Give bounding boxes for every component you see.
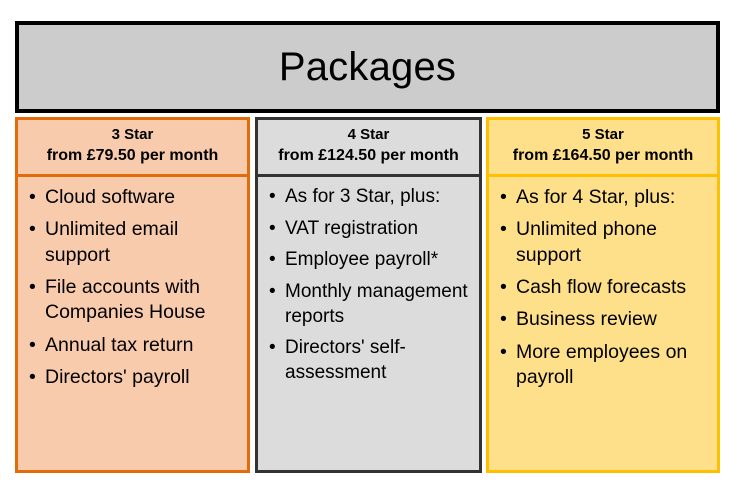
bullet-icon: • — [269, 217, 276, 242]
feature-text: Business review — [516, 308, 657, 330]
packages-columns: 3 Star from £79.50 per month • Cloud sof… — [15, 117, 720, 473]
package-tier-name: 3 Star — [24, 125, 241, 145]
list-item: • Annual tax return — [28, 333, 241, 358]
bullet-icon: • — [269, 248, 276, 273]
bullet-icon: • — [500, 217, 507, 242]
package-body-4-star: • As for 3 Star, plus: • VAT registratio… — [258, 177, 479, 470]
bullet-icon: • — [29, 217, 36, 242]
feature-text: Cash flow forecasts — [516, 276, 686, 298]
feature-text: VAT registration — [285, 218, 418, 239]
package-price: from £124.50 per month — [264, 145, 473, 167]
feature-list-3-star: • Cloud software • Unlimited email suppo… — [28, 185, 241, 390]
bullet-icon: • — [29, 275, 36, 300]
package-price: from £79.50 per month — [24, 145, 241, 167]
package-column-3-star[interactable]: 3 Star from £79.50 per month • Cloud sof… — [15, 117, 250, 473]
package-body-3-star: • Cloud software • Unlimited email suppo… — [18, 177, 247, 470]
list-item: • As for 4 Star, plus: — [499, 185, 711, 210]
feature-text: File accounts with Companies House — [45, 276, 205, 323]
list-item: • Employee payroll* — [268, 248, 473, 273]
page-title: Packages — [279, 47, 456, 87]
bullet-icon: • — [500, 307, 507, 332]
list-item: • Cloud software — [28, 185, 241, 210]
feature-list-4-star: • As for 3 Star, plus: • VAT registratio… — [268, 185, 473, 386]
feature-text: Monthly management reports — [285, 281, 468, 327]
package-header-4-star: 4 Star from £124.50 per month — [258, 120, 479, 177]
list-item: • Directors' payroll — [28, 365, 241, 390]
list-item: • Business review — [499, 307, 711, 332]
feature-text: Directors' self-assessment — [285, 337, 406, 383]
feature-text: Annual tax return — [45, 334, 194, 356]
list-item: • More employees on payroll — [499, 340, 711, 391]
feature-text: Employee payroll* — [285, 249, 438, 270]
bullet-icon: • — [29, 333, 36, 358]
list-item: • File accounts with Companies House — [28, 275, 241, 326]
package-price: from £164.50 per month — [495, 145, 711, 167]
title-banner: Packages — [15, 21, 720, 113]
feature-text: Unlimited phone support — [516, 218, 657, 265]
packages-pricing-slide: Packages 3 Star from £79.50 per month • … — [0, 0, 750, 500]
list-item: • As for 3 Star, plus: — [268, 185, 473, 210]
bullet-icon: • — [269, 280, 276, 305]
package-tier-name: 5 Star — [495, 125, 711, 145]
package-column-5-star[interactable]: 5 Star from £164.50 per month • As for 4… — [486, 117, 720, 473]
feature-text: Unlimited email support — [45, 218, 178, 265]
package-header-3-star: 3 Star from £79.50 per month — [18, 120, 247, 177]
feature-text: Cloud software — [45, 186, 175, 208]
list-item: • Unlimited phone support — [499, 217, 711, 268]
package-column-4-star[interactable]: 4 Star from £124.50 per month • As for 3… — [255, 117, 482, 473]
list-item: • Unlimited email support — [28, 217, 241, 268]
package-tier-name: 4 Star — [264, 125, 473, 145]
feature-list-5-star: • As for 4 Star, plus: • Unlimited phone… — [499, 185, 711, 390]
bullet-icon: • — [500, 185, 507, 210]
bullet-icon: • — [500, 340, 507, 365]
bullet-icon: • — [29, 365, 36, 390]
bullet-icon: • — [500, 275, 507, 300]
list-item: • Cash flow forecasts — [499, 275, 711, 300]
feature-text: As for 4 Star, plus: — [516, 186, 675, 208]
feature-text: As for 3 Star, plus: — [285, 186, 440, 207]
package-body-5-star: • As for 4 Star, plus: • Unlimited phone… — [489, 177, 717, 470]
package-header-5-star: 5 Star from £164.50 per month — [489, 120, 717, 177]
feature-text: More employees on payroll — [516, 341, 687, 388]
list-item: • Directors' self-assessment — [268, 336, 473, 385]
list-item: • VAT registration — [268, 217, 473, 242]
feature-text: Directors' payroll — [45, 366, 190, 388]
bullet-icon: • — [269, 336, 276, 361]
list-item: • Monthly management reports — [268, 280, 473, 329]
bullet-icon: • — [29, 185, 36, 210]
bullet-icon: • — [269, 185, 276, 210]
